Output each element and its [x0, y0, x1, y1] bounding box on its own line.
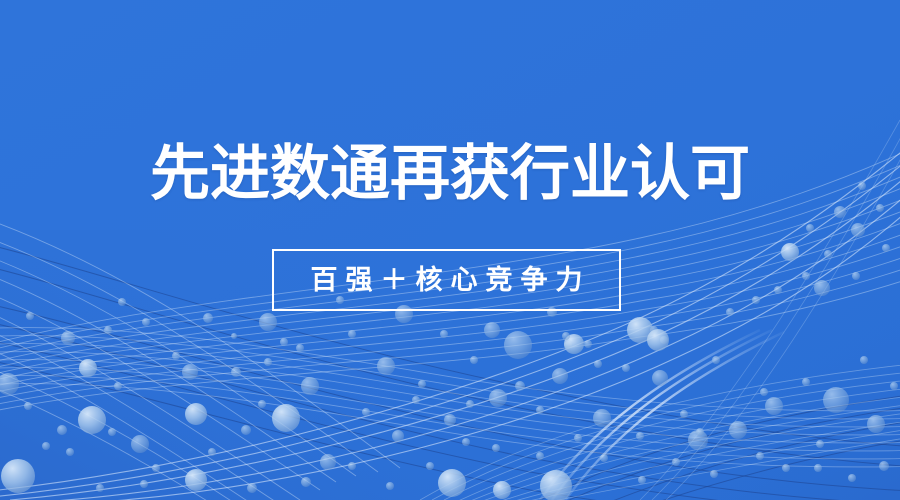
subtitle-badge: 百强＋核心竞争力 [272, 249, 621, 311]
page-title: 先进数通再获行业认可 [0, 138, 900, 210]
subtitle-badge-label: 百强＋核心竞争力 [303, 265, 591, 295]
promotional-banner: 先进数通再获行业认可 百强＋核心竞争力 [0, 0, 900, 500]
banner-content: 先进数通再获行业认可 百强＋核心竞争力 [0, 0, 900, 500]
